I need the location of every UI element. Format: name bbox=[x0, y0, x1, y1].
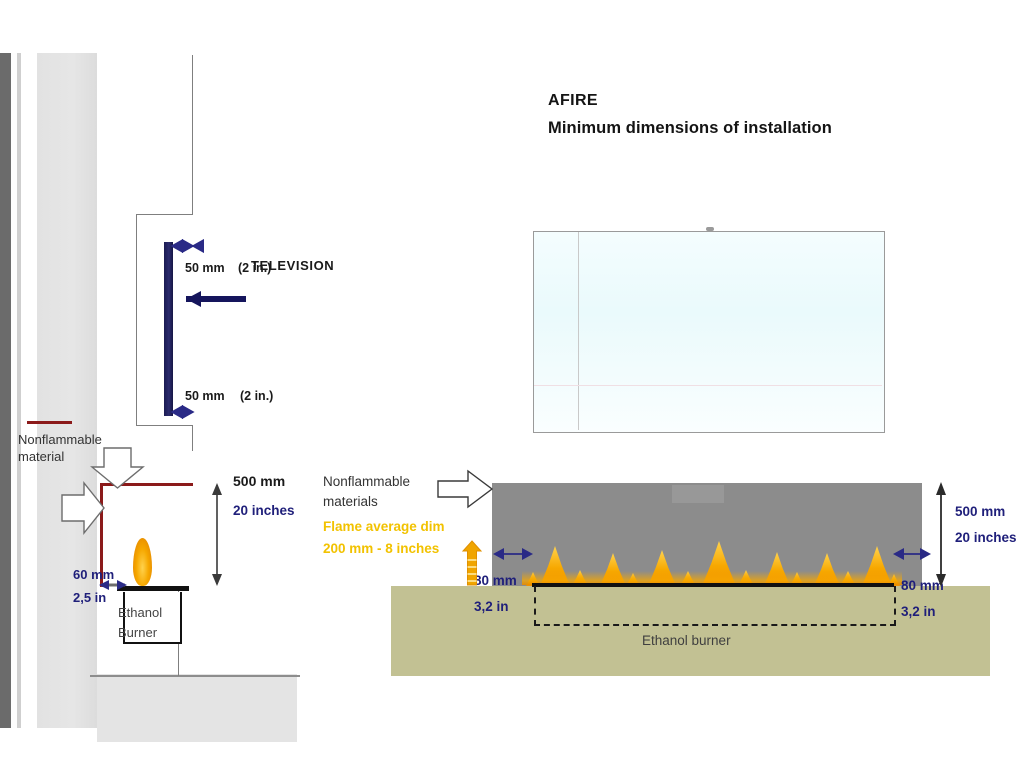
flame-oval-icon bbox=[133, 538, 152, 586]
ethanol-burner-label-line1: Ethanol bbox=[118, 605, 162, 620]
niche-top-horizontal bbox=[136, 214, 193, 215]
screen-seam-horizontal bbox=[534, 385, 882, 386]
left-vertical-clearance-imperial: 20 inches bbox=[233, 503, 295, 518]
diagram-canvas: Nonflammable material 50 mm (2 in.) 50 m… bbox=[0, 33, 993, 720]
right-nonflammable-arrow bbox=[438, 471, 492, 507]
tv-bottom-clearance-imperial: (2 in.) bbox=[240, 389, 273, 403]
right-side-clearance-imperial: 3,2 in bbox=[901, 604, 936, 619]
ethanol-burner-label-line2: Burner bbox=[118, 625, 157, 640]
left-side-clearance-imperial: 3,2 in bbox=[474, 599, 509, 614]
wall-offset-metric: 60 mm bbox=[73, 567, 114, 582]
floor-band-upper bbox=[97, 674, 297, 709]
right-vertical-clearance-imperial: 20 inches bbox=[955, 530, 1017, 545]
wall-edge-dark bbox=[0, 53, 11, 728]
left-vertical-clearance-metric: 500 mm bbox=[233, 473, 285, 489]
niche-top-vertical bbox=[192, 55, 193, 215]
left-side-clearance-metric: 80 mm bbox=[474, 573, 517, 588]
screen-seam-vertical bbox=[578, 232, 579, 430]
tv-top-clearance-metric: 50 mm bbox=[185, 261, 225, 275]
flame-average-dim-line1: Flame average dim bbox=[323, 519, 445, 534]
flame-average-dim-line2: 200 mm - 8 inches bbox=[323, 541, 439, 556]
floor-line bbox=[90, 675, 300, 677]
right-vertical-clearance-metric: 500 mm bbox=[955, 504, 1005, 519]
television-leader-arrow bbox=[186, 291, 246, 307]
nonflammable-legend-swatch bbox=[27, 421, 72, 424]
niche-drop-vertical bbox=[192, 425, 193, 451]
nonflammable-down-arrow bbox=[92, 448, 143, 488]
slide-stage: Nonflammable material 50 mm (2 in.) 50 m… bbox=[0, 0, 1024, 768]
tv-bottom-clearance-metric: 50 mm bbox=[185, 389, 225, 403]
ethanol-burner-top-plate bbox=[117, 586, 189, 591]
wall-surface bbox=[37, 53, 97, 728]
subtitle: Minimum dimensions of installation bbox=[548, 119, 832, 138]
nonflammable-material-label-line2: material bbox=[18, 448, 64, 465]
right-ethanol-burner-label: Ethanol burner bbox=[642, 633, 731, 648]
television-label: TELEVISION bbox=[251, 258, 334, 273]
right-vertical-clearance-arrow bbox=[936, 482, 946, 587]
right-nonflammable-label-line2: materials bbox=[323, 494, 378, 509]
panel-highlight bbox=[672, 485, 724, 503]
brand-title: AFIRE bbox=[548, 92, 598, 110]
floor-band-lower bbox=[97, 709, 297, 742]
wall-offset-imperial: 2,5 in bbox=[73, 590, 106, 605]
right-side-clearance-metric: 80 mm bbox=[901, 578, 944, 593]
burner-dashed-outline bbox=[534, 586, 896, 626]
wall-gap bbox=[21, 53, 37, 728]
niche-left-vertical bbox=[136, 214, 137, 426]
left-vertical-clearance-arrow bbox=[212, 483, 222, 586]
screen-top-nub bbox=[706, 227, 714, 231]
right-nonflammable-label-line1: Nonflammable bbox=[323, 474, 410, 489]
nonflammable-material-label-line1: Nonflammable bbox=[18, 431, 102, 448]
television-panel bbox=[164, 242, 173, 416]
television-screen bbox=[533, 231, 885, 433]
niche-bottom-horizontal bbox=[136, 425, 193, 426]
nonflammable-top-line bbox=[100, 483, 193, 486]
